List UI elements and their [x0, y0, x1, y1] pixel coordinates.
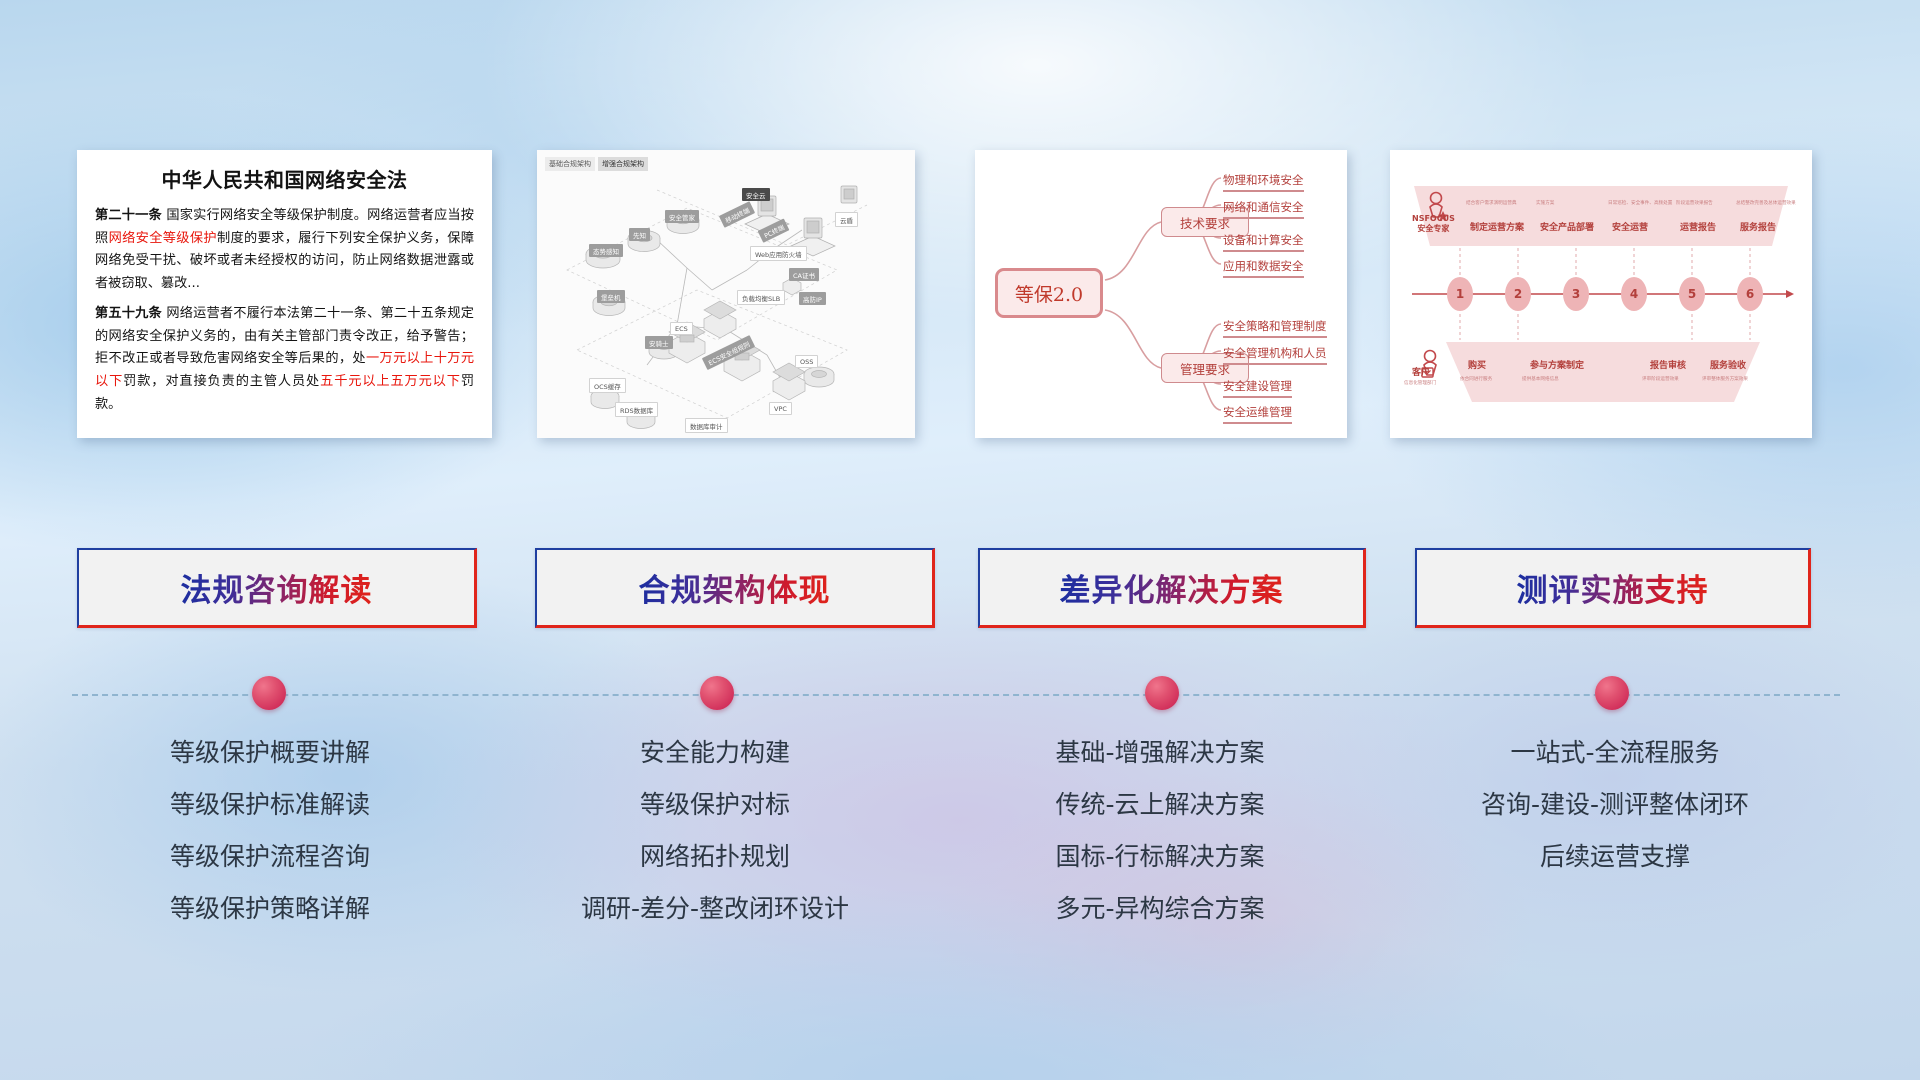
timeline-top-title[interactable]: 运营报告	[1680, 220, 1716, 233]
architecture-node-label: Web应用防火墙	[750, 246, 807, 261]
architecture-node-label: 安全管家	[665, 210, 699, 223]
pillar-item: 等级保护流程咨询	[60, 844, 480, 869]
architecture-node-label: 态势感知	[589, 244, 623, 257]
timeline-bottom-sub: 评审整体服务方案效果	[1702, 376, 1748, 382]
pillar-title-2[interactable]: 合规架构体现	[535, 548, 935, 628]
pillar-item: 传统-云上解决方案	[950, 792, 1370, 817]
law-paragraph-2: 第五十九条 网络运营者不履行本法第二十一条、第二十五条规定的网络安全保护义务的，…	[95, 303, 474, 417]
timeline-bottom-sub: 提供基本网络信息	[1522, 376, 1559, 382]
pillar-item: 多元-异构综合方案	[950, 896, 1370, 921]
axis-dot-2	[700, 676, 734, 710]
timeline-card[interactable]: NSFOCUS安全专家客户信息化管理部门结合客户需求演明运营典制定运营方案实施方…	[1390, 150, 1812, 438]
brand-line-2: 安全专家	[1412, 224, 1455, 234]
timeline-step-marker[interactable]: 3	[1563, 277, 1589, 311]
architecture-node-label: 负载均衡SLB	[737, 290, 785, 305]
pillar-title-1-label: 法规咨询解读	[181, 565, 373, 610]
architecture-node-label: CA证书	[789, 268, 819, 281]
timeline-top-sub: 实施方案	[1536, 200, 1554, 206]
architecture-node-label: OCS缓存	[589, 378, 626, 393]
pillar-item: 基础-增强解决方案	[950, 740, 1370, 765]
timeline-top-sub: 结合客户需求演明运营典	[1466, 200, 1517, 206]
timeline-top-sub: 阶段运营效果报告	[1676, 200, 1713, 206]
architecture-node-label: 云盾	[835, 212, 858, 227]
pillar-item: 国标-行标解决方案	[950, 844, 1370, 869]
pillar-item: 一站式-全流程服务	[1400, 740, 1830, 765]
customer-label: 客户	[1412, 365, 1430, 378]
pillar-item: 等级保护策略详解	[60, 896, 480, 921]
architecture-node-label: 安骑士	[645, 336, 673, 349]
timeline-top-title[interactable]: 制定运营方案	[1470, 220, 1524, 233]
law-card-title: 中华人民共和国网络安全法	[95, 164, 474, 193]
brand-line-1: NSFOCUS	[1412, 214, 1455, 224]
mindmap-leaf-node[interactable]: 设备和计算安全	[1223, 232, 1304, 252]
pillar-item: 等级保护标准解读	[60, 792, 480, 817]
timeline-bottom-title[interactable]: 购买	[1468, 358, 1486, 371]
timeline-bottom-sub: 依合同进行服务	[1460, 376, 1492, 382]
mindmap-leaf-node[interactable]: 应用和数据安全	[1223, 258, 1304, 278]
axis-dot-3	[1145, 676, 1179, 710]
law-text-run: 第二十一条	[95, 208, 162, 223]
architecture-node-label: 先知	[629, 228, 650, 241]
timeline-axis	[72, 694, 1840, 696]
pillar-title-4-label: 测评实施支持	[1517, 565, 1709, 610]
pillar-title-3[interactable]: 差异化解决方案	[978, 548, 1366, 628]
architecture-node-label: 高防IP	[799, 292, 826, 305]
pillar-item: 网络拓扑规划	[505, 844, 925, 869]
law-text-run: 罚款，对直接负责的主管人员处	[123, 374, 320, 389]
pillar-title-4[interactable]: 测评实施支持	[1415, 548, 1811, 628]
law-text-run: 网络安全等级保护	[109, 231, 217, 246]
nsfocus-brand-label: NSFOCUS安全专家	[1412, 214, 1455, 234]
mindmap-leaf-node[interactable]: 安全管理机构和人员	[1223, 345, 1327, 365]
timeline-step-marker[interactable]: 5	[1679, 277, 1705, 311]
timeline-bottom-title[interactable]: 参与方案制定	[1530, 358, 1584, 371]
pillar-title-1[interactable]: 法规咨询解读	[77, 548, 477, 628]
architecture-node-label: 数据库审计	[685, 418, 728, 433]
axis-dot-1	[252, 676, 286, 710]
timeline-step-marker[interactable]: 2	[1505, 277, 1531, 311]
architecture-node-label: OSS	[795, 355, 818, 368]
architecture-card[interactable]: 基础合规架构 增强合规架构	[537, 150, 915, 438]
customer-sublabel: 信息化管理部门	[1404, 380, 1436, 386]
architecture-node-label: ECS	[670, 322, 693, 335]
architecture-node-label: VPC	[769, 402, 792, 415]
mindmap-leaf-node[interactable]: 安全策略和管理制度	[1223, 318, 1327, 338]
mindmap: 等保2.0 技术要求物理和环境安全网络和通信安全设备和计算安全应用和数据安全管理…	[975, 150, 1347, 438]
timeline-step-marker[interactable]: 4	[1621, 277, 1647, 311]
mindmap-leaf-node[interactable]: 物理和环境安全	[1223, 172, 1304, 192]
timeline-bottom-title[interactable]: 报告审核	[1650, 358, 1686, 371]
axis-dot-4	[1595, 676, 1629, 710]
pillar-item: 咨询-建设-测评整体闭环	[1400, 792, 1830, 817]
architecture-diagram: 基础合规架构 增强合规架构	[537, 150, 915, 438]
timeline-top-sub: 总结整改完善及总体运营效果	[1736, 200, 1796, 206]
pillar-item: 等级保护对标	[505, 792, 925, 817]
timeline-top-sub: 日常巡检、安全事件、高频处置	[1608, 200, 1672, 206]
pillar-item: 安全能力构建	[505, 740, 925, 765]
timeline-top-title[interactable]: 安全运营	[1612, 220, 1648, 233]
mindmap-leaf-node[interactable]: 网络和通信安全	[1223, 199, 1304, 219]
pillar-items-1: 等级保护概要讲解等级保护标准解读等级保护流程咨询等级保护策略详解	[60, 740, 480, 948]
pillar-title-3-label: 差异化解决方案	[1060, 565, 1284, 610]
pillar-item: 等级保护概要讲解	[60, 740, 480, 765]
timeline-step-marker[interactable]: 1	[1447, 277, 1473, 311]
mindmap-card[interactable]: 等保2.0 技术要求物理和环境安全网络和通信安全设备和计算安全应用和数据安全管理…	[975, 150, 1347, 438]
architecture-node-label: 安全云	[742, 188, 770, 201]
law-card-body: 中华人民共和国网络安全法 第二十一条 国家实行网络安全等级保护制度。网络运营者应…	[77, 150, 492, 431]
law-text-run: 五千元以上五万元以下	[320, 374, 461, 389]
architecture-node-label: RDS数据库	[615, 402, 658, 417]
mindmap-leaf-node[interactable]: 安全运维管理	[1223, 404, 1292, 424]
architecture-node-label: 堡垒机	[597, 290, 625, 303]
timeline-bottom-title[interactable]: 服务验收	[1710, 358, 1746, 371]
pillar-items-4: 一站式-全流程服务咨询-建设-测评整体闭环后续运营支撑	[1400, 740, 1830, 896]
law-text-run: 第五十九条	[95, 306, 162, 321]
pillar-items-3: 基础-增强解决方案传统-云上解决方案国标-行标解决方案多元-异构综合方案	[950, 740, 1370, 948]
timeline-top-title[interactable]: 安全产品部署	[1540, 220, 1594, 233]
pillar-title-2-label: 合规架构体现	[639, 565, 831, 610]
service-timeline: NSFOCUS安全专家客户信息化管理部门结合客户需求演明运营典制定运营方案实施方…	[1390, 150, 1812, 438]
law-paragraph-1: 第二十一条 国家实行网络安全等级保护制度。网络运营者应当按照网络安全等级保护制度…	[95, 205, 474, 296]
pillar-items-2: 安全能力构建等级保护对标网络拓扑规划调研-差分-整改闭环设计	[505, 740, 925, 948]
timeline-bottom-sub: 评审阶段运营效果	[1642, 376, 1679, 382]
law-card[interactable]: 中华人民共和国网络安全法 第二十一条 国家实行网络安全等级保护制度。网络运营者应…	[77, 150, 492, 438]
mindmap-root-node[interactable]: 等保2.0	[995, 268, 1103, 318]
pillar-item: 调研-差分-整改闭环设计	[505, 896, 925, 921]
timeline-step-marker[interactable]: 6	[1737, 277, 1763, 311]
pillar-item: 后续运营支撑	[1400, 844, 1830, 869]
architecture-wireframe	[537, 150, 915, 438]
timeline-top-title[interactable]: 服务报告	[1740, 220, 1776, 233]
mindmap-leaf-node[interactable]: 安全建设管理	[1223, 378, 1292, 398]
